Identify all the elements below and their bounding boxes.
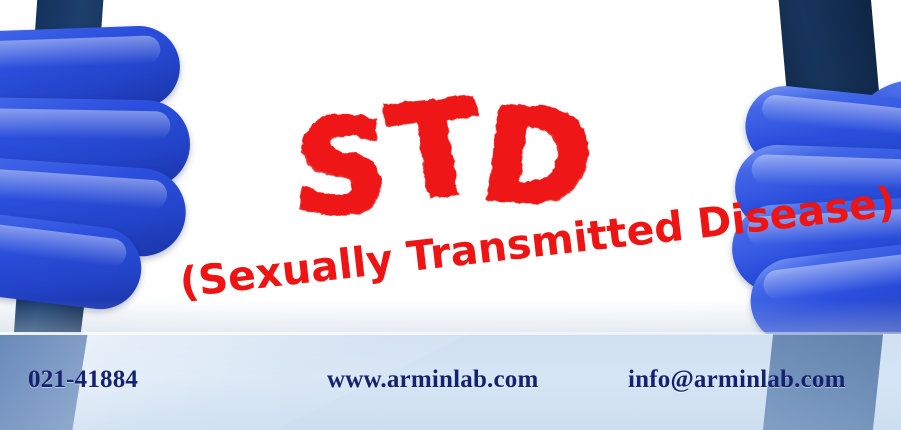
std-awareness-banner: STD (Sexually Transmitted Disease) 021-4… <box>0 0 901 430</box>
headline-letter-s: S <box>291 101 395 233</box>
headline-letter-d: D <box>475 90 605 225</box>
footer-email[interactable]: info@arminlab.com <box>628 366 846 394</box>
headline-std: STD <box>290 73 678 229</box>
footer-phone[interactable]: 021-41884 <box>28 366 138 394</box>
footer-contact-group: 021-41884 www.arminlab.com info@arminlab… <box>0 334 901 430</box>
footer-website[interactable]: www.arminlab.com <box>327 366 539 394</box>
